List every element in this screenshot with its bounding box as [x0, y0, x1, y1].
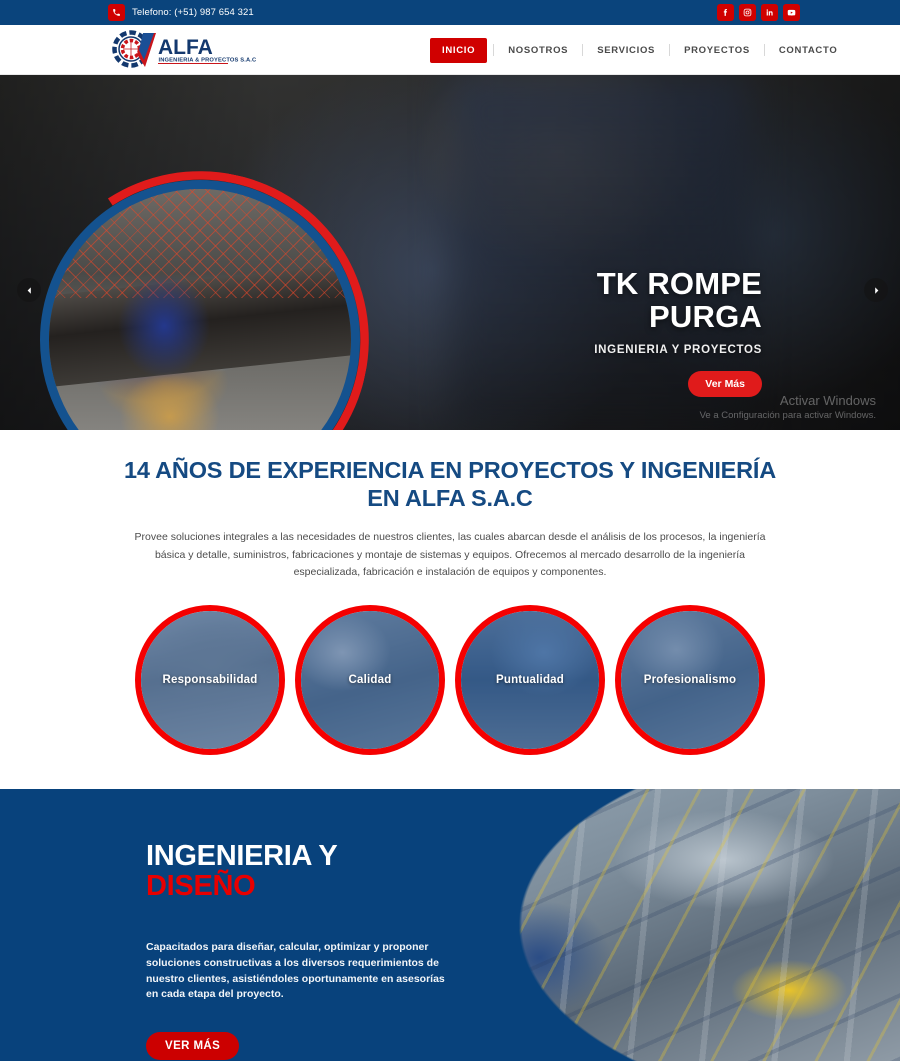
value-circle-responsabilidad[interactable]: Responsabilidad — [135, 605, 285, 755]
site-logo[interactable]: ALFA INGENIERIA & PROYECTOS S.A.C. — [108, 30, 256, 70]
hero-circular-image — [40, 180, 360, 430]
engineering-cta-button[interactable]: VER MÁS — [146, 1032, 239, 1060]
value-label: Calidad — [349, 674, 392, 686]
engineering-photo-detail — [438, 789, 900, 1061]
youtube-icon[interactable] — [783, 4, 800, 21]
about-paragraph: Provee soluciones integrales a las neces… — [130, 529, 770, 581]
engineering-title-line1: INGENIERIA Y — [146, 841, 466, 871]
main-header: ALFA INGENIERIA & PROYECTOS S.A.C. INICI… — [0, 25, 900, 75]
hero-slider: TK ROMPE PURGA INGENIERIA Y PROYECTOS Ve… — [0, 75, 900, 430]
value-circle-calidad[interactable]: Calidad — [295, 605, 445, 755]
chevron-left-icon — [25, 286, 34, 295]
value-label: Puntualidad — [496, 674, 564, 686]
windows-activation-watermark: Activar Windows Ve a Configuración para … — [700, 393, 876, 422]
social-links — [717, 4, 800, 21]
engineering-content: INGENIERIA Y DISEÑO Capacitados para dis… — [146, 841, 466, 1060]
about-section: 14 AÑOS DE EXPERIENCIA EN PROYECTOS Y IN… — [0, 430, 900, 789]
nav-item-nosotros[interactable]: NOSOTROS — [494, 45, 582, 56]
hero-content: TK ROMPE PURGA INGENIERIA Y PROYECTOS Ve… — [594, 267, 762, 397]
about-heading-line2: EN ALFA S.A.C — [367, 485, 532, 511]
primary-navigation: INICIO NOSOTROS SERVICIOS PROYECTOS CONT… — [430, 25, 851, 75]
watermark-title: Activar Windows — [700, 393, 876, 410]
phone-label: Telefono: (+51) 987 654 321 — [132, 7, 254, 18]
value-circle-puntualidad[interactable]: Puntualidad — [455, 605, 605, 755]
hero-welder — [103, 268, 242, 430]
value-label: Profesionalismo — [644, 674, 736, 686]
instagram-icon[interactable] — [739, 4, 756, 21]
hero-subtitle: INGENIERIA Y PROYECTOS — [594, 344, 762, 356]
linkedin-icon[interactable] — [761, 4, 778, 21]
svg-text:INGENIERIA & PROYECTOS S.A.C.: INGENIERIA & PROYECTOS S.A.C. — [159, 57, 257, 63]
top-contact-bar: Telefono: (+51) 987 654 321 — [0, 0, 900, 25]
hero-title-line2: PURGA — [594, 300, 762, 333]
slider-next-button[interactable] — [864, 278, 888, 302]
slider-prev-button[interactable] — [17, 278, 41, 302]
value-label: Responsabilidad — [162, 674, 257, 686]
nav-item-inicio[interactable]: INICIO — [430, 38, 487, 63]
chevron-right-icon — [872, 286, 881, 295]
about-heading: 14 AÑOS DE EXPERIENCIA EN PROYECTOS Y IN… — [0, 456, 900, 512]
engineering-photo — [438, 789, 900, 1061]
phone-icon — [108, 4, 125, 21]
about-heading-line1: 14 AÑOS DE EXPERIENCIA EN PROYECTOS Y IN… — [124, 457, 776, 483]
engineering-paragraph: Capacitados para diseñar, calcular, opti… — [146, 940, 446, 1004]
nav-item-servicios[interactable]: SERVICIOS — [583, 45, 669, 56]
facebook-icon[interactable] — [717, 4, 734, 21]
hero-title-line1: TK ROMPE — [594, 267, 762, 300]
engineering-section: INGENIERIA Y DISEÑO Capacitados para dis… — [0, 789, 900, 1061]
engineering-title-line2: DISEÑO — [146, 871, 466, 901]
values-list: Responsabilidad Calidad Puntualidad Prof… — [0, 605, 900, 789]
value-circle-profesionalismo[interactable]: Profesionalismo — [615, 605, 765, 755]
phone-contact[interactable]: Telefono: (+51) 987 654 321 — [108, 4, 254, 21]
svg-text:ALFA: ALFA — [158, 36, 213, 59]
nav-item-contacto[interactable]: CONTACTO — [765, 45, 852, 56]
nav-item-proyectos[interactable]: PROYECTOS — [670, 45, 764, 56]
watermark-subtitle: Ve a Configuración para activar Windows. — [700, 410, 876, 422]
